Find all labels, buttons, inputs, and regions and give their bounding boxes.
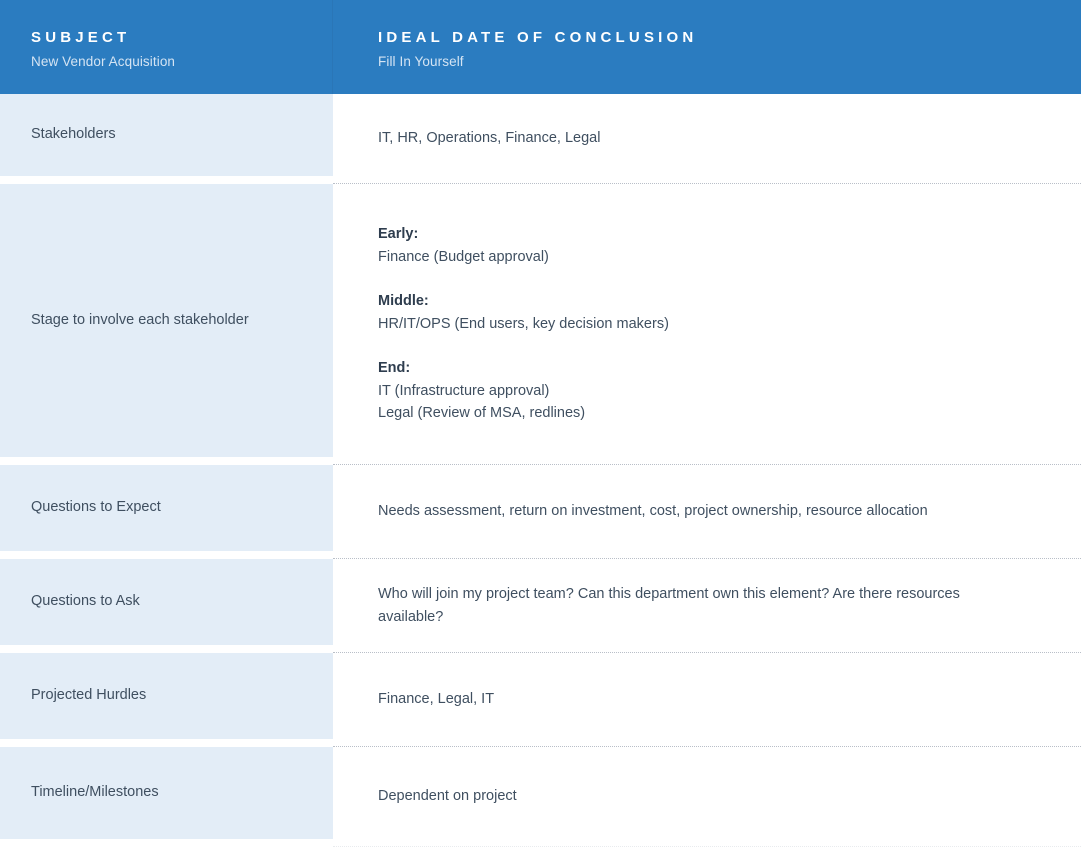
row-label-stakeholders: Stakeholders (0, 94, 333, 184)
header-column-ideal-date: IDEAL DATE OF CONCLUSION Fill In Yoursel… (333, 0, 1081, 94)
stage-heading: Early: (378, 223, 1041, 245)
row-label-timeline-milestones: Timeline/Milestones (0, 747, 333, 847)
stage-line: Finance (Budget approval) (378, 246, 1041, 268)
header-ideal-date-title: IDEAL DATE OF CONCLUSION (378, 30, 1081, 47)
table-row: Questions to Ask Who will join my projec… (0, 559, 1081, 653)
row-value-text: Dependent on project (378, 785, 978, 807)
table-row: Stage to involve each stakeholder Early:… (0, 184, 1081, 465)
stage-heading: End: (378, 357, 1041, 379)
table-header: SUBJECT New Vendor Acquisition IDEAL DAT… (0, 0, 1081, 94)
header-ideal-date-subtitle: Fill In Yourself (378, 54, 1081, 70)
row-value-timeline-milestones[interactable]: Dependent on project (333, 747, 1081, 847)
header-subject-subtitle: New Vendor Acquisition (31, 54, 332, 70)
row-value-projected-hurdles[interactable]: Finance, Legal, IT (333, 653, 1081, 747)
row-label-projected-hurdles: Projected Hurdles (0, 653, 333, 747)
table-row: Projected Hurdles Finance, Legal, IT (0, 653, 1081, 747)
row-value-stage-to-involve[interactable]: Early: Finance (Budget approval) Middle:… (333, 184, 1081, 465)
row-value-questions-to-expect[interactable]: Needs assessment, return on investment, … (333, 465, 1081, 559)
stage-group-early: Early: Finance (Budget approval) (378, 223, 1041, 268)
header-subject-title: SUBJECT (31, 30, 332, 47)
row-value-text: Needs assessment, return on investment, … (378, 500, 978, 522)
row-label-questions-to-expect: Questions to Expect (0, 465, 333, 559)
stage-line: IT (Infrastructure approval) (378, 380, 1041, 402)
stage-heading: Middle: (378, 290, 1041, 312)
header-column-subject: SUBJECT New Vendor Acquisition (0, 0, 333, 94)
row-value-questions-to-ask[interactable]: Who will join my project team? Can this … (333, 559, 1081, 653)
row-value-text: IT, HR, Operations, Finance, Legal (378, 127, 978, 149)
planning-table: SUBJECT New Vendor Acquisition IDEAL DAT… (0, 0, 1081, 847)
row-value-stakeholders[interactable]: IT, HR, Operations, Finance, Legal (333, 94, 1081, 184)
table-row: Stakeholders IT, HR, Operations, Finance… (0, 94, 1081, 184)
row-value-text: Finance, Legal, IT (378, 688, 978, 710)
row-label-stage-to-involve: Stage to involve each stakeholder (0, 184, 333, 465)
stage-group-middle: Middle: HR/IT/OPS (End users, key decisi… (378, 290, 1041, 335)
stage-line: Legal (Review of MSA, redlines) (378, 402, 1041, 424)
row-value-text: Who will join my project team? Can this … (378, 583, 1008, 628)
table-body: Stakeholders IT, HR, Operations, Finance… (0, 94, 1081, 847)
stage-group-end: End: IT (Infrastructure approval) Legal … (378, 357, 1041, 424)
table-row: Questions to Expect Needs assessment, re… (0, 465, 1081, 559)
row-label-questions-to-ask: Questions to Ask (0, 559, 333, 653)
table-row: Timeline/Milestones Dependent on project (0, 747, 1081, 847)
stage-line: HR/IT/OPS (End users, key decision maker… (378, 313, 1041, 335)
